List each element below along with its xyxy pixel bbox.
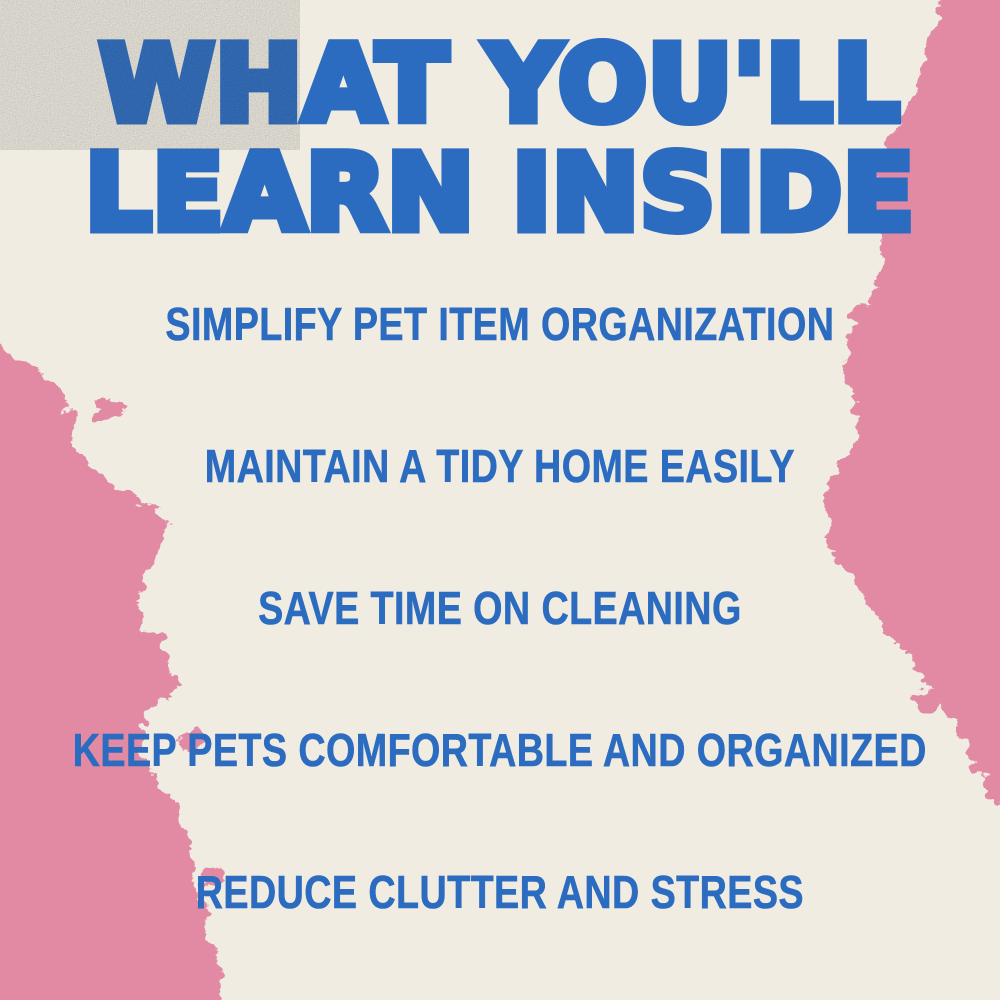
benefit-list: SIMPLIFY PET ITEM ORGANIZATION MAINTAIN …: [0, 285, 1000, 960]
benefit-item: SIMPLIFY PET ITEM ORGANIZATION: [166, 297, 835, 351]
benefit-item: MAINTAIN A TIDY HOME EASILY: [205, 439, 795, 493]
page-title: WHAT YOU'LL LEARN INSIDE: [0, 40, 1000, 239]
benefit-item: KEEP PETS COMFORTABLE AND ORGANIZED: [73, 723, 927, 777]
benefit-item: SAVE TIME ON CLEANING: [258, 581, 742, 635]
poster-canvas: WHAT YOU'LL LEARN INSIDE SIMPLIFY PET IT…: [0, 0, 1000, 1000]
headline-line-2: LEARN INSIDE: [0, 149, 1000, 238]
benefit-item: REDUCE CLUTTER AND STRESS: [196, 865, 804, 919]
headline-line-1: WHAT YOU'LL: [0, 40, 1000, 129]
poster-content: WHAT YOU'LL LEARN INSIDE SIMPLIFY PET IT…: [0, 0, 1000, 1000]
